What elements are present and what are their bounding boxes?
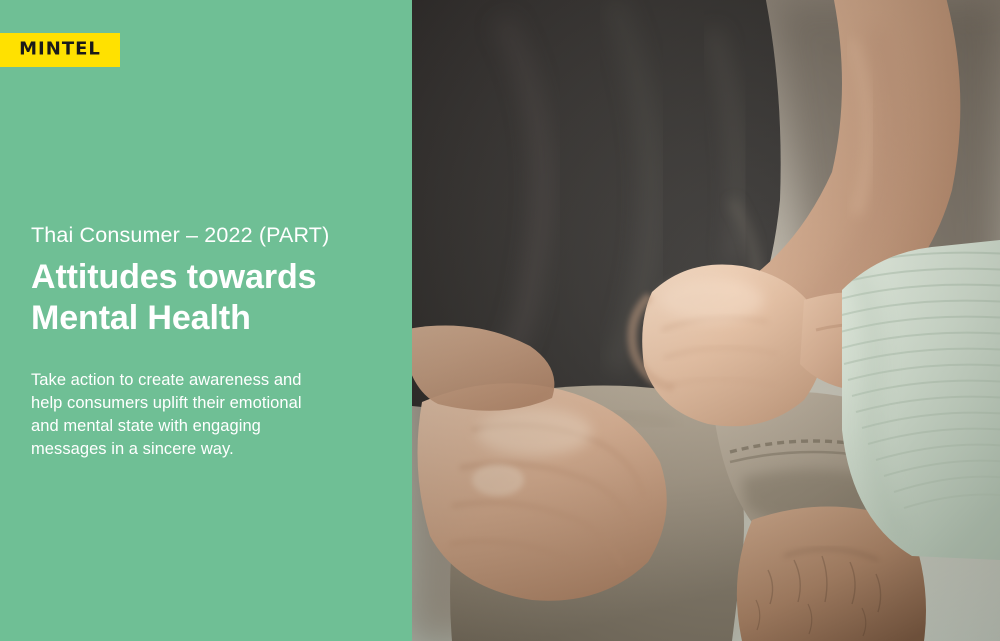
- title-text-block: Thai Consumer – 2022 (PART) Attitudes to…: [31, 222, 386, 462]
- page-subcopy-line-4: messages in a sincere way.: [31, 438, 351, 461]
- mintel-logo-text: MINTEL: [19, 41, 101, 59]
- page-subcopy-line-3: and mental state with engaging: [31, 415, 351, 438]
- mintel-logo-badge: MINTEL: [0, 33, 120, 67]
- photo-lighting-overlay: [412, 0, 1000, 641]
- page-subcopy: Take action to create awareness and help…: [31, 369, 351, 461]
- report-eyebrow-label: Thai Consumer – 2022 (PART): [31, 222, 386, 249]
- page-title-line-1: Attitudes towards: [31, 257, 386, 298]
- page-title: Attitudes towards Mental Health: [31, 257, 386, 339]
- hero-photograph: [412, 0, 1000, 641]
- page-subcopy-line-2: help consumers uplift their emotional: [31, 392, 351, 415]
- slide-canvas: MINTEL Thai Consumer – 2022 (PART) Attit…: [0, 0, 1000, 641]
- page-subcopy-line-1: Take action to create awareness and: [31, 369, 351, 392]
- page-title-line-2: Mental Health: [31, 298, 386, 339]
- left-content-panel: MINTEL Thai Consumer – 2022 (PART) Attit…: [0, 0, 412, 641]
- hero-photograph-illustration: [412, 0, 1000, 641]
